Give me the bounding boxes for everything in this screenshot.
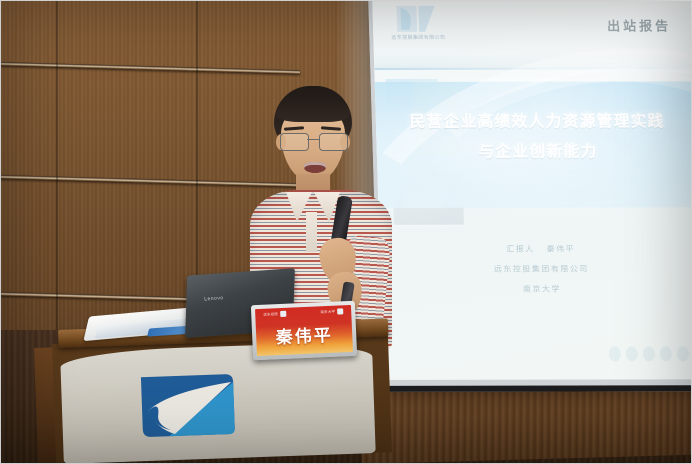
presenter-line-role: 汇报人秦伟平 — [379, 239, 692, 260]
nameplate-logo-row: 远东控股 南京大学 — [263, 308, 343, 317]
screen-surface: 远东控股集团有限公司 出站报告 民营企业高绩效人力资源管理实践 与 — [372, 0, 692, 380]
slide-footer-ornaments — [609, 346, 689, 361]
nameplate-holder: 远东控股 南京大学 秦伟平 — [251, 301, 357, 360]
wood-panel-under-screen — [360, 383, 692, 464]
footer-ornament-dot — [677, 346, 689, 361]
glasses-lens-left — [280, 133, 309, 151]
nameplate-logo-right: 南京大学 — [320, 308, 343, 315]
slide-title: 民营企业高绩效人力资源管理实践 与企业创新能力 — [375, 107, 692, 168]
nameplate-logo-right-mark-icon — [337, 308, 343, 314]
glasses-lens-right — [319, 133, 348, 151]
presentation-photo: 远东控股集团有限公司 出站报告 民营企业高绩效人力资源管理实践 与 — [0, 0, 692, 464]
footer-ornament-dot — [660, 346, 672, 361]
nameplate-logo-left-text: 远东控股 — [263, 312, 278, 318]
footer-ornament-dot — [609, 346, 621, 361]
speaker-glasses — [278, 133, 348, 150]
laptop-brand-label: Lenovo — [204, 295, 224, 302]
nameplate-name: 秦伟平 — [256, 320, 353, 349]
footer-ornament-dot — [643, 346, 655, 361]
presenter-university: 南京大学 — [381, 279, 692, 300]
slide-logo-caption: 远东控股集团有限公司 — [391, 34, 445, 41]
presenter-name: 秦伟平 — [547, 245, 576, 254]
presenter-company: 远东控股集团有限公司 — [380, 259, 692, 280]
speaker-mouth — [304, 162, 326, 173]
far-east-holding-logo — [394, 2, 451, 36]
podium-front-panel — [60, 341, 376, 464]
far-east-holding-podium-logo — [133, 368, 243, 444]
nameplate: 远东控股 南京大学 秦伟平 — [255, 305, 353, 356]
nameplate-logo-left-mark-icon — [280, 311, 286, 317]
presentation-slide: 远东控股集团有限公司 出站报告 民营企业高绩效人力资源管理实践 与 — [372, 0, 692, 380]
projection-screen: 远东控股集团有限公司 出站报告 民营企业高绩效人力资源管理实践 与 — [368, 0, 692, 392]
nameplate-logo-left: 远东控股 — [263, 311, 286, 318]
footer-ornament-dot — [626, 346, 638, 361]
slide-presenter-block: 汇报人秦伟平 远东控股集团有限公司 南京大学 — [379, 239, 692, 300]
slide-header-title: 出站报告 — [607, 15, 672, 34]
nameplate-logo-right-text: 南京大学 — [320, 309, 335, 315]
slide-title-line-1: 民营企业高绩效人力资源管理实践 — [409, 113, 665, 130]
wall-seam — [196, 0, 198, 300]
presenter-role-label: 汇报人 — [506, 245, 535, 254]
glasses-bridge — [307, 139, 319, 140]
slide-title-line-2: 与企业创新能力 — [376, 137, 692, 168]
slide-header-rule — [374, 67, 692, 70]
wall-seam — [56, 0, 58, 340]
shirt-placket — [306, 212, 317, 252]
